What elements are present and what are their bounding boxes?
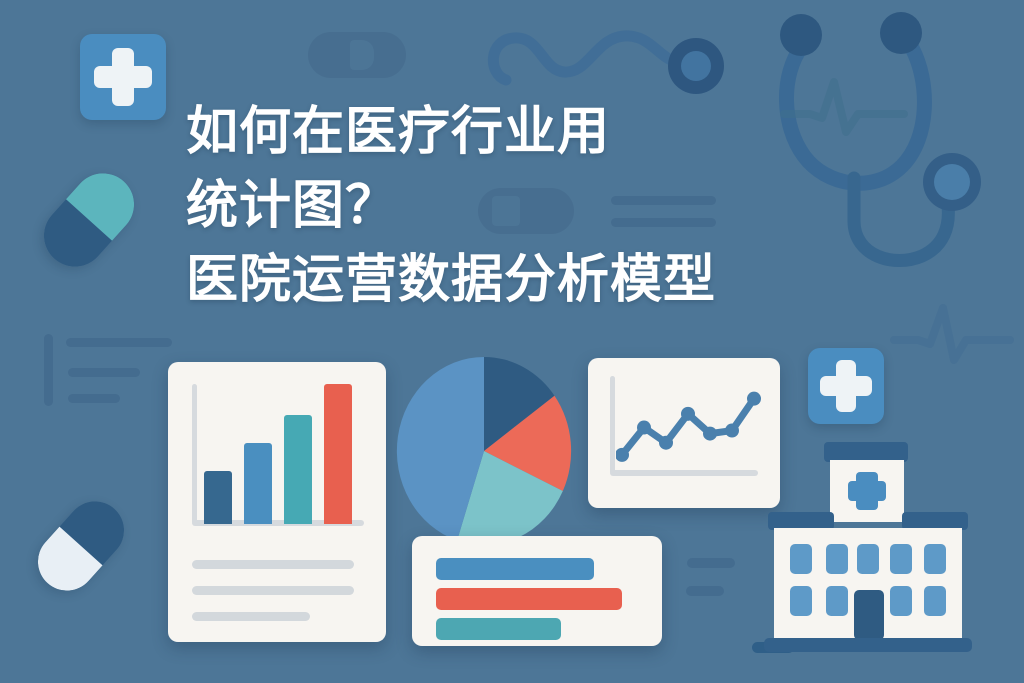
horizontal-bar-1 bbox=[436, 558, 594, 580]
decor-vertical-bar-left bbox=[44, 334, 53, 406]
bar-chart-bar-2 bbox=[244, 443, 272, 524]
medical-cross-icon-right bbox=[808, 348, 884, 424]
medical-cross-icon-top-left bbox=[80, 34, 166, 120]
line-chart-point-5 bbox=[703, 427, 717, 441]
decor-circle-inner bbox=[681, 51, 711, 81]
cross-arm-vertical bbox=[112, 48, 134, 106]
decor-line-right-2 bbox=[686, 586, 724, 596]
horizontal-bar-card bbox=[412, 536, 662, 646]
pill-capsule-icon-upper bbox=[31, 161, 147, 280]
decor-line-left-1 bbox=[66, 338, 172, 347]
card-placeholder-line-3 bbox=[192, 612, 310, 621]
title-line-3: 医院运营数据分析模型 bbox=[186, 244, 886, 318]
line-chart-point-3 bbox=[659, 436, 673, 450]
title-line-2: 统计图？ bbox=[186, 170, 886, 244]
pie-chart bbox=[396, 356, 572, 546]
bar-chart-bar-4 bbox=[324, 384, 352, 524]
line-chart-point-4 bbox=[681, 407, 695, 421]
line-chart-card bbox=[588, 358, 780, 508]
line-chart-point-2 bbox=[637, 421, 651, 435]
poster-canvas: 如何在医疗行业用 统计图？ 医院运营数据分析模型 bbox=[0, 0, 1024, 683]
ecg-heartbeat-icon-right bbox=[890, 300, 1015, 370]
title-line-1: 如何在医疗行业用 bbox=[186, 96, 886, 170]
decor-line-left-3 bbox=[68, 394, 120, 403]
decor-line-left-2 bbox=[68, 368, 140, 377]
bar-chart-card bbox=[168, 362, 386, 642]
cross-arm-vertical-2 bbox=[836, 360, 856, 412]
line-chart-series bbox=[616, 376, 762, 472]
horizontal-bar-3 bbox=[436, 618, 561, 640]
line-chart-point-6 bbox=[725, 424, 739, 438]
bar-chart-bar-3 bbox=[284, 415, 312, 524]
bar-chart-y-axis bbox=[192, 384, 197, 524]
decor-line-right-1 bbox=[687, 558, 735, 568]
decor-pill-notch-top bbox=[350, 40, 374, 70]
bar-chart-bar-1 bbox=[204, 471, 232, 524]
page-title: 如何在医疗行业用 统计图？ 医院运营数据分析模型 bbox=[186, 96, 886, 317]
card-placeholder-line-2 bbox=[192, 586, 354, 595]
hospital-building-icon bbox=[760, 436, 976, 658]
horizontal-bar-2 bbox=[436, 588, 622, 610]
decor-circle-outer bbox=[668, 38, 724, 94]
card-placeholder-line-1 bbox=[192, 560, 354, 569]
line-chart-point-7 bbox=[747, 392, 761, 406]
bar-chart-bars bbox=[204, 384, 362, 524]
pill-capsule-icon-lower bbox=[26, 489, 136, 602]
line-chart-y-axis bbox=[610, 376, 615, 474]
